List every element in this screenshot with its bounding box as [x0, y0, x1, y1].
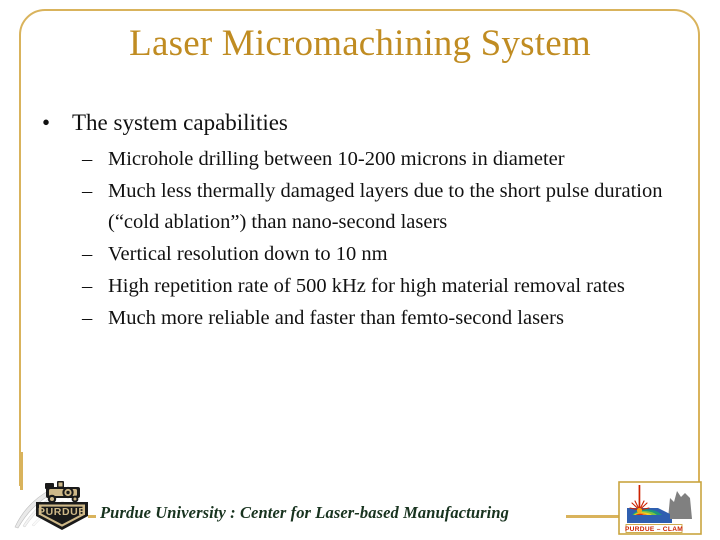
bullet-level2-item: – Microhole drilling between 10-200 micr… [36, 144, 686, 175]
bullet-level2-text: High repetition rate of 500 kHz for high… [108, 271, 686, 302]
bullet-level1-text: The system capabilities [72, 110, 288, 135]
svg-text:PURDUE – CLAM: PURDUE – CLAM [625, 526, 683, 533]
bullet-level2-text: Much more reliable and faster than femto… [108, 303, 686, 334]
bullet-level2-item: – High repetition rate of 500 kHz for hi… [36, 271, 686, 302]
bullet-level2-text: Vertical resolution down to 10 nm [108, 239, 686, 270]
bullet-level2-text: Much less thermally damaged layers due t… [108, 176, 686, 238]
bullet-dash-icon: – [82, 144, 92, 175]
slide-title: Laser Micromachining System [0, 22, 720, 66]
purdue-clam-logo: PURDUE – CLAM [618, 481, 702, 535]
bullet-level2-item: – Much less thermally damaged layers due… [36, 176, 686, 238]
bullet-level2-list: – Microhole drilling between 10-200 micr… [36, 144, 686, 334]
bullet-dash-icon: – [82, 303, 92, 334]
purdue-boilermaker-logo: PURDUE [12, 470, 108, 534]
slide-body: • The system capabilities – Microhole dr… [36, 108, 686, 335]
bullet-dash-icon: – [82, 176, 92, 207]
bullet-dash-icon: – [82, 239, 92, 270]
slide-canvas: Laser Micromachining System • The system… [0, 0, 720, 540]
bullet-dot-icon: • [42, 108, 50, 138]
bullet-level2-text: Microhole drilling between 10-200 micron… [108, 144, 686, 175]
footer-organization-text: Purdue University : Center for Laser-bas… [100, 503, 509, 523]
bullet-level2-item: – Vertical resolution down to 10 nm [36, 239, 686, 270]
bullet-level2-item: – Much more reliable and faster than fem… [36, 303, 686, 334]
bullet-level1: • The system capabilities [36, 108, 686, 138]
svg-text:PURDUE: PURDUE [38, 506, 86, 518]
bullet-dash-icon: – [82, 271, 92, 302]
